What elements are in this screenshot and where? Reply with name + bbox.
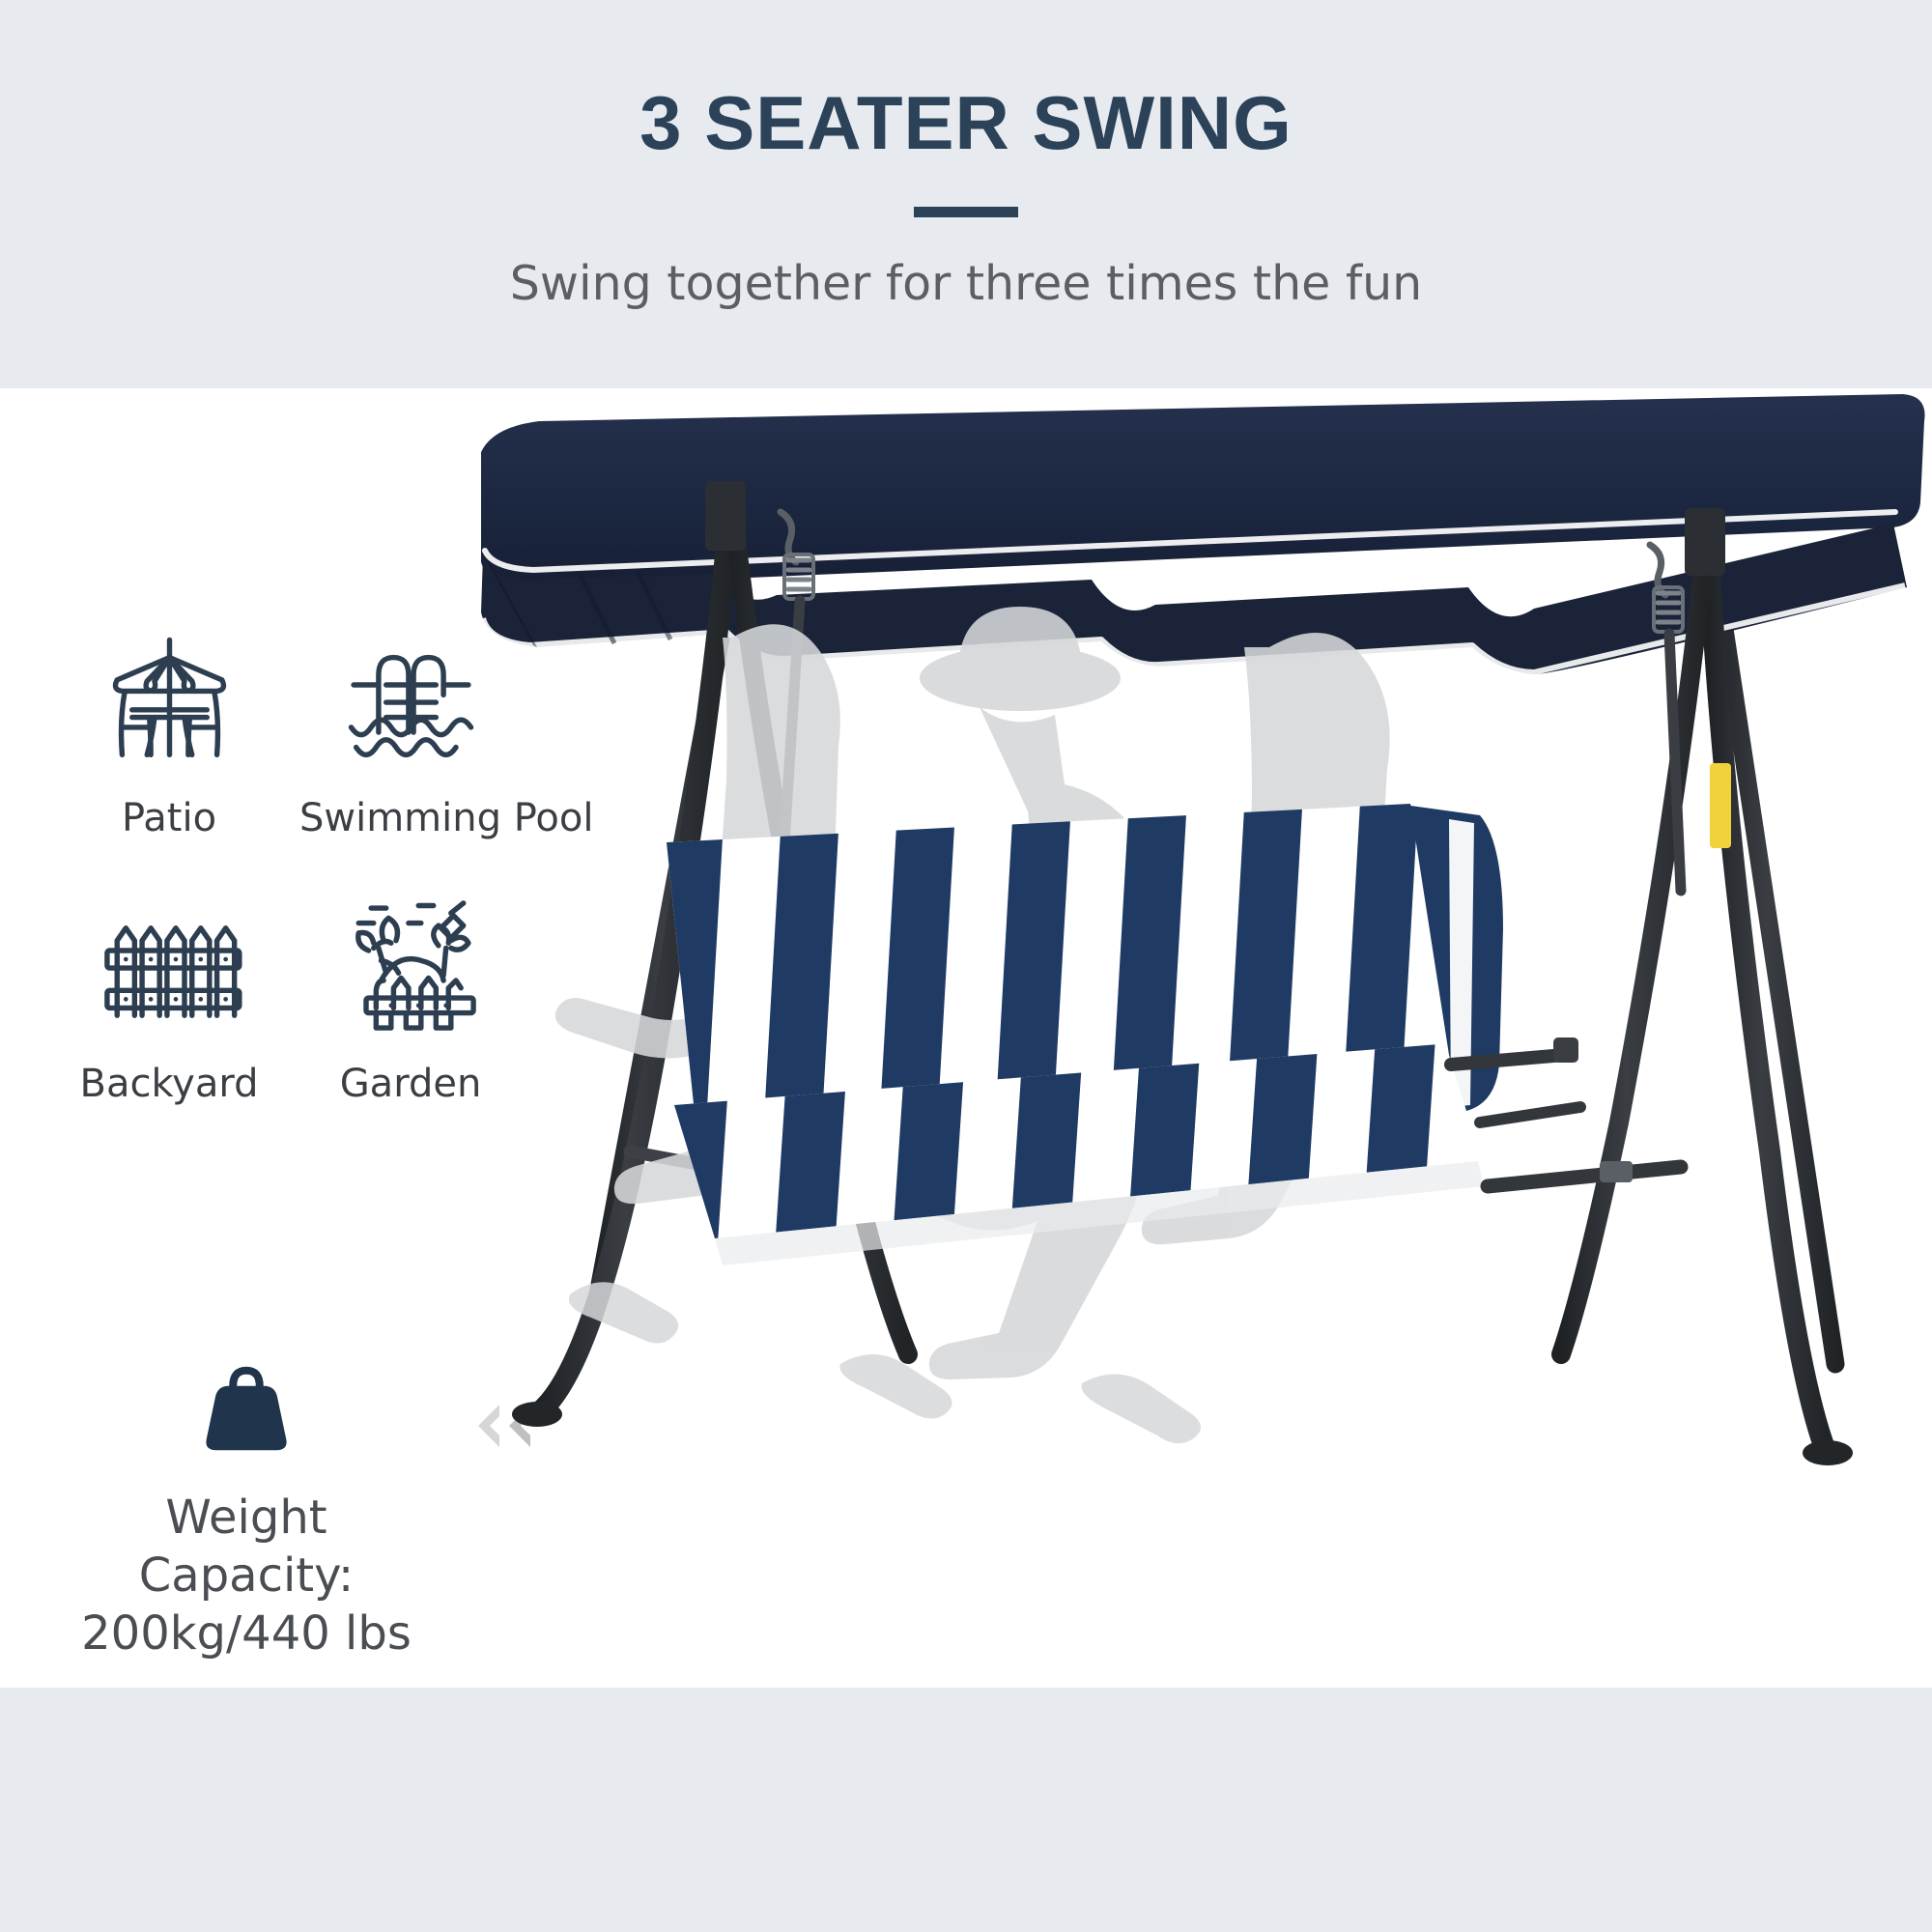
patio-umbrella-table-icon bbox=[58, 596, 280, 775]
product-image bbox=[425, 388, 1932, 1688]
feature-item-backyard: Backyard bbox=[58, 862, 280, 1106]
page-title: 3 SEATER SWING bbox=[639, 85, 1293, 160]
feature-item-patio: Patio bbox=[58, 596, 280, 840]
feature-label: Backyard bbox=[58, 1062, 280, 1106]
backyard-fence-icon bbox=[58, 862, 280, 1040]
capacity-line-1: Weight Capacity: bbox=[53, 1489, 440, 1605]
weight-capacity-text: Weight Capacity: 200kg/440 lbs bbox=[53, 1489, 440, 1662]
feature-label: Patio bbox=[58, 796, 280, 840]
swing-cushion bbox=[647, 769, 1503, 1265]
weight-capacity-block: Weight Capacity: 200kg/440 lbs bbox=[53, 1348, 440, 1662]
capacity-line-2: 200kg/440 lbs bbox=[53, 1605, 440, 1662]
header-band: 3 SEATER SWING Swing together for three … bbox=[0, 0, 1932, 388]
title-divider bbox=[914, 207, 1018, 217]
swing-seat-support bbox=[1451, 1037, 1681, 1186]
footer-band bbox=[0, 1688, 1932, 1932]
weight-kettlebell-icon bbox=[53, 1348, 440, 1463]
page-subtitle: Swing together for three times the fun bbox=[510, 256, 1422, 311]
